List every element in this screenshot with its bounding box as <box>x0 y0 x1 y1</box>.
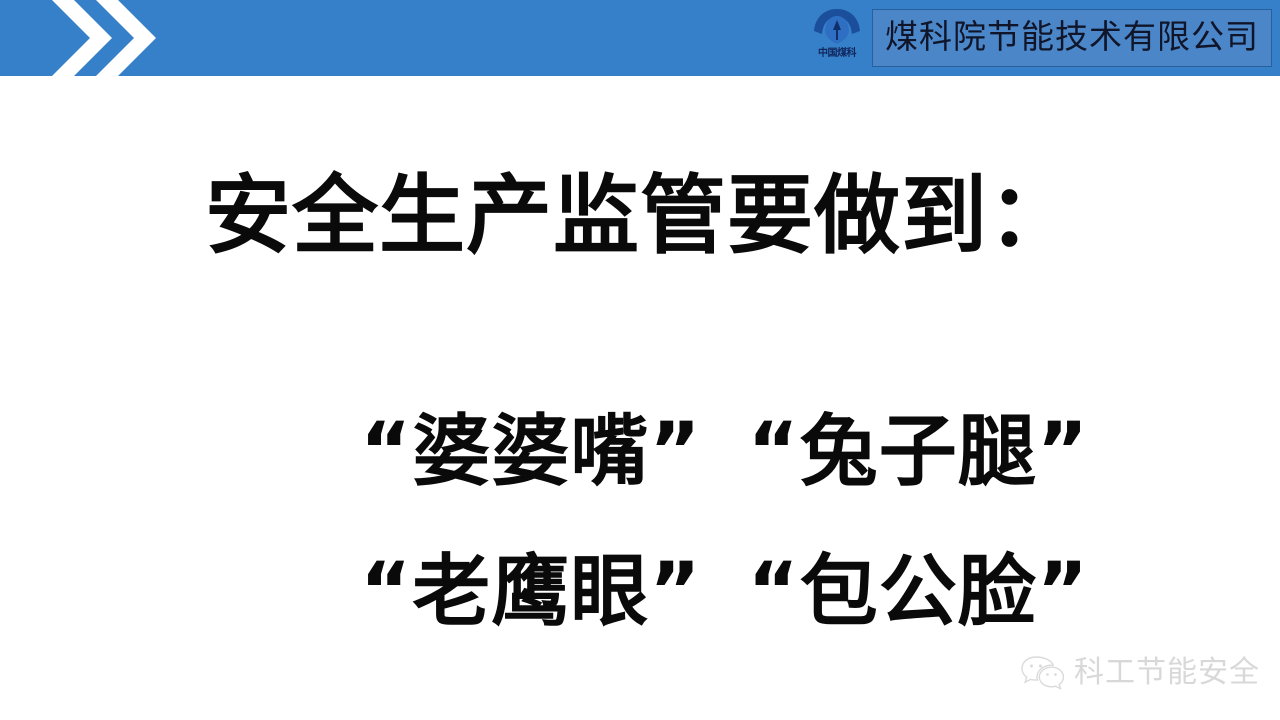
logo-caption: 中国煤科 <box>818 48 856 59</box>
slide-content: 安全生产监管要做到： “婆婆嘴”“兔子腿” “老鹰眼”“包公脸” <box>0 76 1280 720</box>
company-name-text: 煤科院节能技术有限公司 <box>885 17 1259 57</box>
header-banner: 中国煤科 煤科院节能技术有限公司 <box>0 0 1280 76</box>
company-name-box: 煤科院节能技术有限公司 <box>872 9 1272 67</box>
wechat-watermark: 科工节能安全 <box>1020 654 1260 692</box>
company-branding: 中国煤科 煤科院节能技术有限公司 <box>808 4 1272 72</box>
slide-canvas: 中国煤科 煤科院节能技术有限公司 安全生产监管要做到： “婆婆嘴”“兔子腿” “… <box>0 0 1280 720</box>
company-logo: 中国煤科 <box>808 7 866 69</box>
watermark-text: 科工节能安全 <box>1074 656 1260 690</box>
phrase-laoyingyan: “老鹰眼” <box>360 547 702 637</box>
wechat-icon <box>1020 654 1066 692</box>
china-coal-emblem-icon <box>812 7 862 47</box>
phrase-baogonglian: “包公脸” <box>747 547 1089 637</box>
double-chevron-icon <box>50 0 160 76</box>
slide-title: 安全生产监管要做到： <box>0 168 1280 264</box>
